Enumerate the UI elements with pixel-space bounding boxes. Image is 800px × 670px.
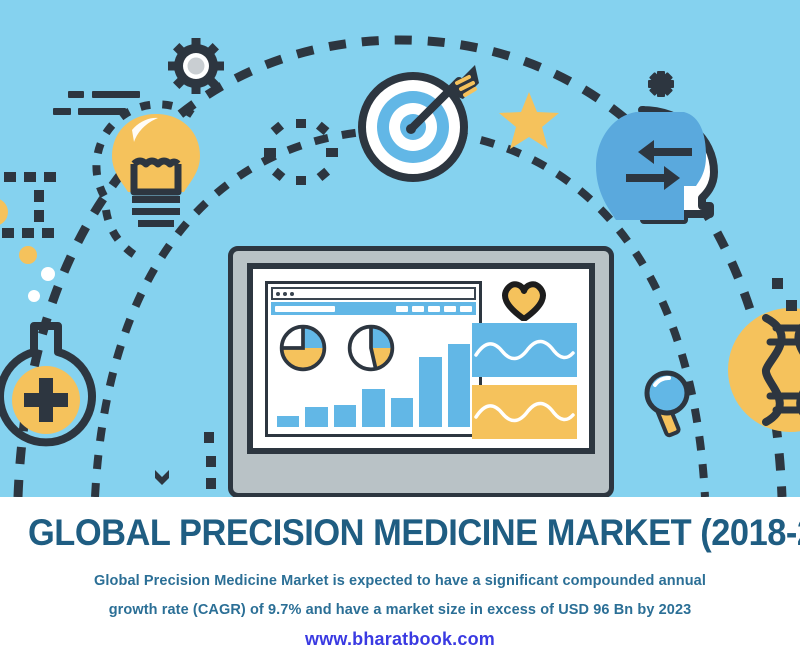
- browser-tool-button[interactable]: [428, 306, 440, 312]
- subtitle-line-2: growth rate (CAGR) of 9.7% and have a ma…: [50, 596, 750, 625]
- bar-5: [391, 398, 413, 427]
- head-exchange-icon: [596, 110, 714, 220]
- bar-7: [448, 344, 470, 427]
- asterisk-icon: [648, 71, 674, 97]
- bar-3: [334, 405, 356, 428]
- caption-block: GLOBAL PRECISION MEDICINE MARKET (2018-2…: [0, 497, 800, 670]
- browser-dot-1: [276, 292, 280, 296]
- decor-dot-white-2: [28, 290, 40, 302]
- monitor-illustration: [228, 246, 614, 498]
- browser-tool-button[interactable]: [460, 306, 472, 312]
- wave-panel-blue: [472, 323, 577, 377]
- browser-window: [265, 281, 482, 437]
- heart-icon: [500, 281, 548, 321]
- bar-2: [305, 407, 327, 427]
- bar-1: [277, 416, 299, 427]
- browser-toolbar: [271, 302, 476, 315]
- browser-titlebar: [271, 287, 476, 300]
- browser-content: [271, 318, 476, 431]
- browser-tool-button[interactable]: [412, 306, 424, 312]
- subtitle: Global Precision Medicine Market is expe…: [50, 567, 750, 625]
- dashboard-side-panel: [472, 281, 577, 441]
- gear-icon: [168, 38, 224, 94]
- bar-chart: [277, 337, 470, 427]
- decor-dot-yellow: [19, 246, 37, 264]
- browser-tool-button[interactable]: [396, 306, 408, 312]
- browser-toolbar-buttons: [396, 306, 476, 312]
- subtitle-line-1: Global Precision Medicine Market is expe…: [50, 567, 750, 596]
- page-title: GLOBAL PRECISION MEDICINE MARKET (2018-2…: [28, 512, 772, 554]
- bar-6: [419, 357, 441, 427]
- browser-address-bar[interactable]: [275, 306, 335, 312]
- bar-4: [362, 389, 384, 427]
- wave-panel-yellow: [472, 385, 577, 439]
- browser-dot-2: [283, 292, 287, 296]
- decor-dot-white-1: [41, 267, 55, 281]
- hero-illustration: [0, 0, 800, 497]
- website-url[interactable]: www.bharatbook.com: [0, 629, 800, 650]
- infographic-poster: GLOBAL PRECISION MEDICINE MARKET (2018-2…: [0, 0, 800, 670]
- browser-tool-button[interactable]: [444, 306, 456, 312]
- monitor-screen: [247, 263, 595, 454]
- browser-dot-3: [290, 292, 294, 296]
